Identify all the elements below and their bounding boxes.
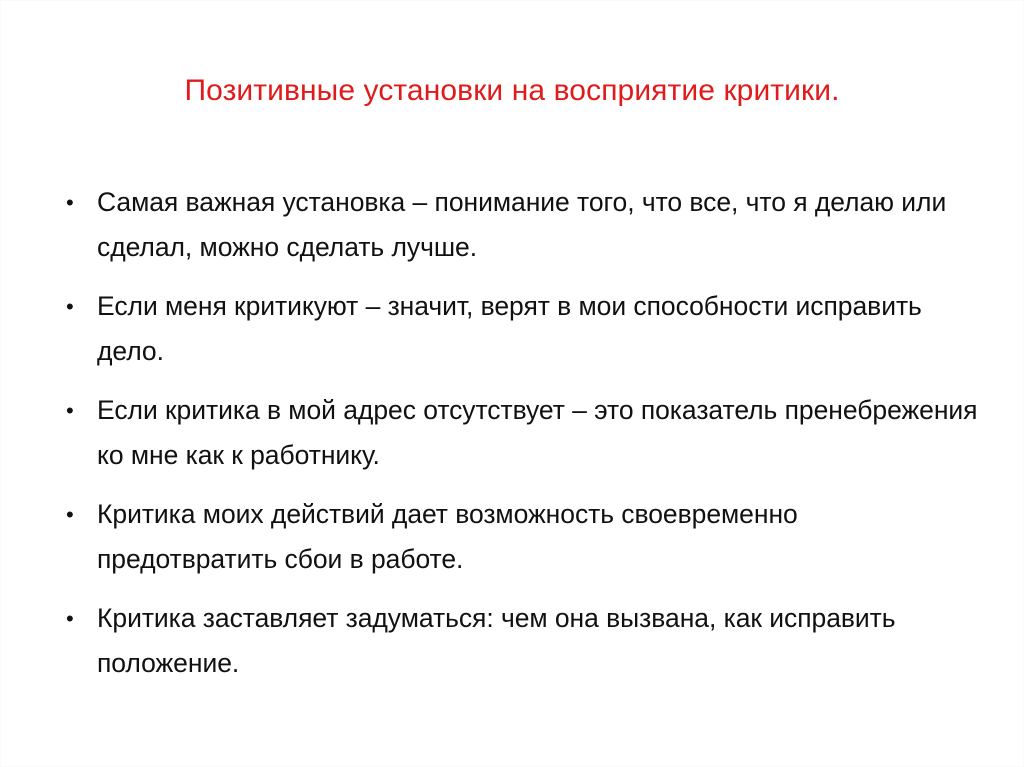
slide-canvas: Позитивные установки на восприятие крити… (0, 0, 1024, 767)
bullet-point-icon: • (66, 492, 84, 537)
bullet-list: • Самая важная установка – понимание тог… (52, 180, 982, 686)
bullet-item-4: • Критика моих действий дает возможность… (52, 492, 982, 582)
bullet-item-3-text: Если критика в мой адрес отсутствует – э… (97, 388, 982, 478)
bullet-item-1-text: Самая важная установка – понимание того,… (97, 180, 982, 270)
bullet-point-icon: • (66, 596, 84, 641)
body-placeholder: • Самая важная установка – понимание тог… (52, 180, 982, 686)
bullet-item-5-text: Критика заставляет задуматься: чем она в… (97, 596, 982, 686)
bullet-point-icon: • (66, 388, 84, 433)
bullet-item-4-text: Критика моих действий дает возможность с… (97, 492, 982, 582)
bullet-point-icon: • (66, 180, 84, 225)
slide-title: Позитивные установки на восприятие крити… (52, 72, 972, 110)
bullet-item-5: • Критика заставляет задуматься: чем она… (52, 596, 982, 686)
bullet-item-2: • Если меня критикуют – значит, верят в … (52, 284, 982, 374)
bullet-item-3: • Если критика в мой адрес отсутствует –… (52, 388, 982, 478)
title-placeholder: Позитивные установки на восприятие крити… (52, 72, 972, 110)
bullet-item-2-text: Если меня критикуют – значит, верят в мо… (97, 284, 982, 374)
bullet-item-1: • Самая важная установка – понимание тог… (52, 180, 982, 270)
bullet-point-icon: • (66, 284, 84, 329)
